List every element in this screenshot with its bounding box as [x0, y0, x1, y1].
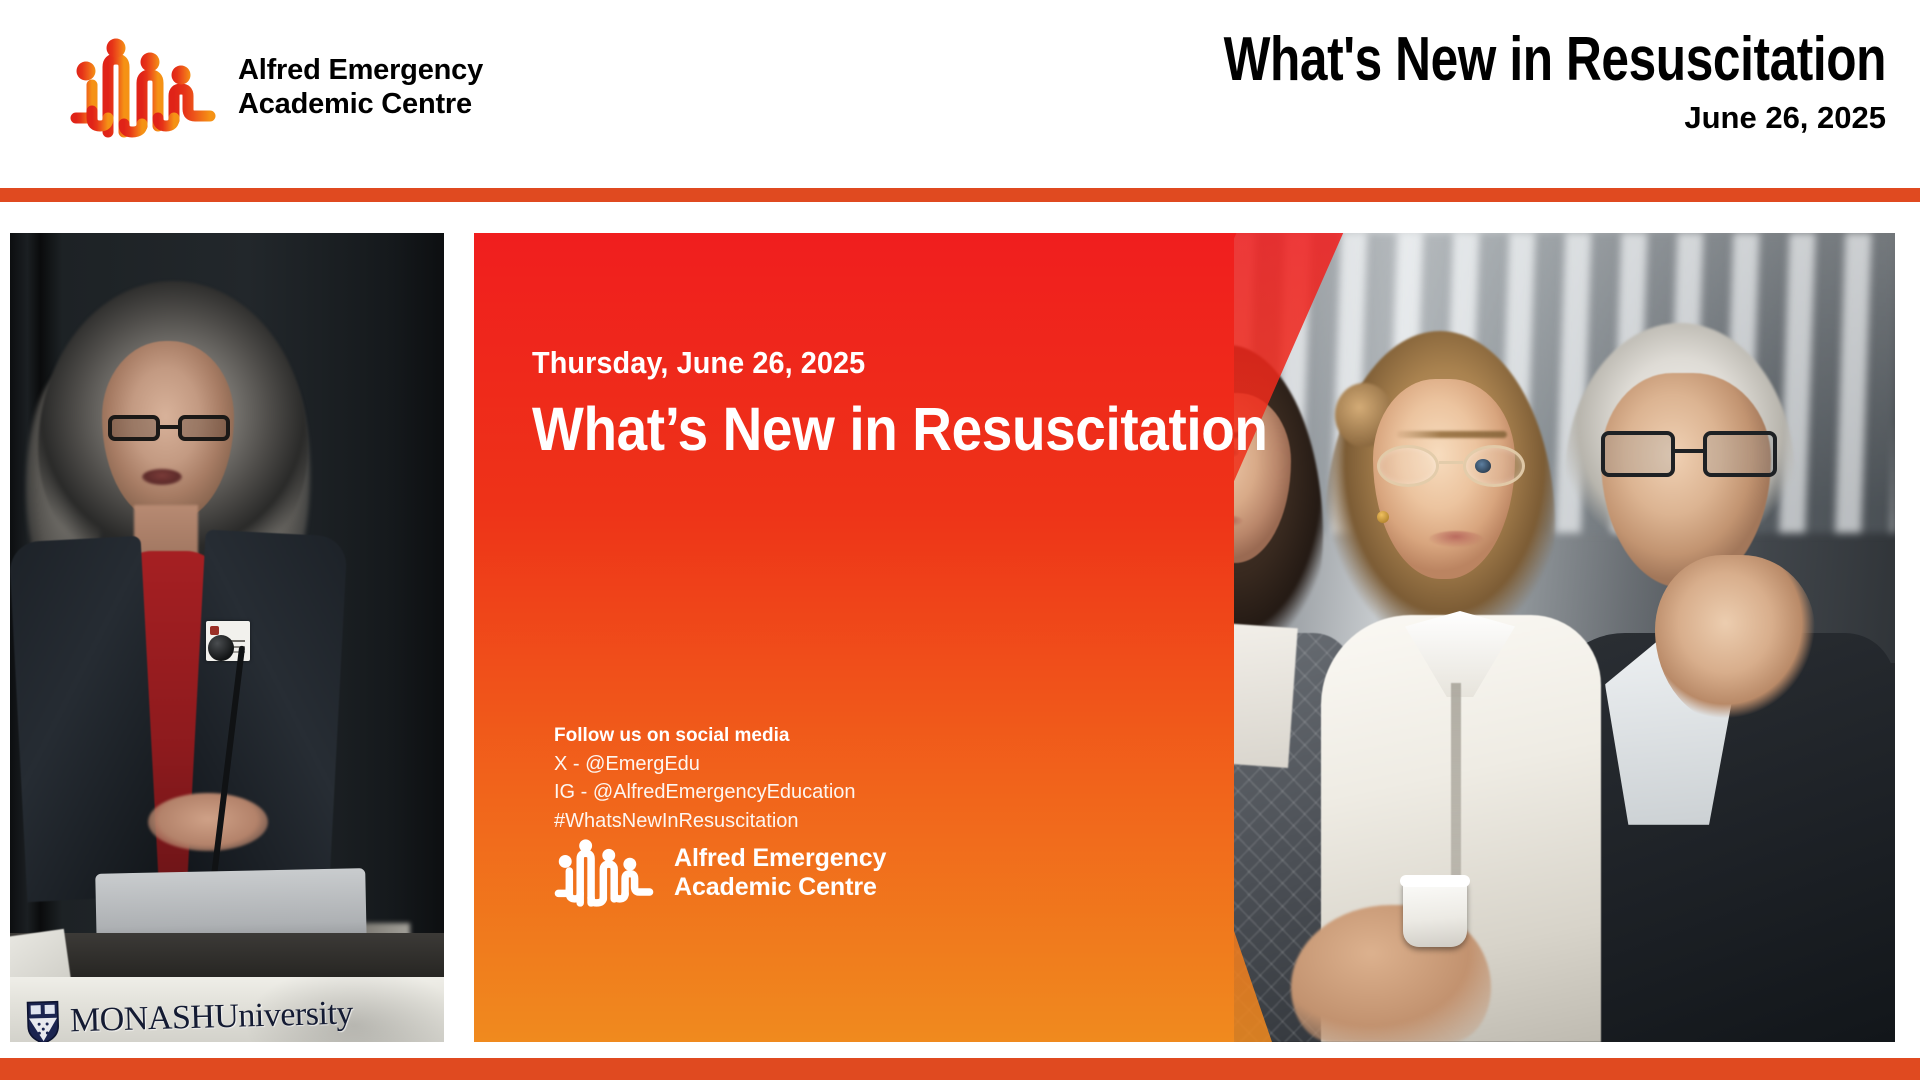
attendee-2-brow — [1397, 431, 1507, 438]
social-handle-ig: IG - @AlfredEmergencyEducation — [554, 778, 856, 806]
social-hashtag: #WhatsNewInResuscitation — [554, 807, 856, 835]
people-waveform-logo-icon — [70, 38, 216, 138]
coffee-cup — [1403, 879, 1467, 947]
speaker-jacket-left — [10, 536, 159, 902]
brand-name: Alfred Emergency Academic Centre — [238, 54, 483, 121]
brand-lockup: Alfred Emergency Academic Centre — [70, 38, 483, 138]
speaker-photo: MONASHUniversity — [10, 233, 444, 1042]
monash-crest-icon — [25, 1000, 60, 1042]
monash-word-bold: MONASH — [70, 998, 215, 1039]
speaker-mouth — [142, 469, 182, 485]
attendee-2-earring — [1377, 511, 1389, 523]
attendee-2-eye — [1475, 459, 1491, 473]
page-date: June 26, 2025 — [1058, 101, 1886, 135]
promo-date: Thursday, June 26, 2025 — [532, 345, 865, 381]
header-title-block: What's New in Resuscitation June 26, 202… — [1058, 28, 1886, 135]
accent-rule-bottom — [0, 1058, 1920, 1080]
social-media-block: Follow us on social media X - @EmergEdu … — [554, 723, 856, 835]
promo-brand-lockup: Alfred Emergency Academic Centre — [554, 839, 886, 907]
monash-word-light: University — [214, 994, 354, 1035]
content-area: MONASHUniversity — [0, 202, 1920, 1058]
microphone-icon — [208, 635, 234, 661]
attendee-2-glasses-icon — [1377, 445, 1525, 487]
speaker-hands — [148, 793, 268, 851]
speaker-glasses-icon — [106, 415, 232, 441]
social-handle-x: X - @EmergEdu — [554, 750, 856, 778]
page-title: What's New in Resuscitation — [1224, 28, 1886, 91]
page-header: Alfred Emergency Academic Centre What's … — [0, 0, 1920, 188]
people-waveform-logo-white-icon — [554, 839, 654, 907]
promo-slide: Thursday, June 26, 2025 What’s New in Re… — [474, 233, 1895, 1042]
promo-headline: What’s New in Resuscitation — [532, 397, 1268, 461]
social-heading: Follow us on social media — [554, 723, 856, 750]
attendee-2-smile — [1429, 531, 1483, 547]
promo-brand-name: Alfred Emergency Academic Centre — [674, 844, 886, 903]
promo-text-block: Thursday, June 26, 2025 What’s New in Re… — [532, 233, 1292, 1042]
monash-wordmark: MONASHUniversity — [70, 994, 354, 1040]
attendee-3-glasses-icon — [1601, 431, 1777, 477]
accent-rule-top — [0, 188, 1920, 202]
